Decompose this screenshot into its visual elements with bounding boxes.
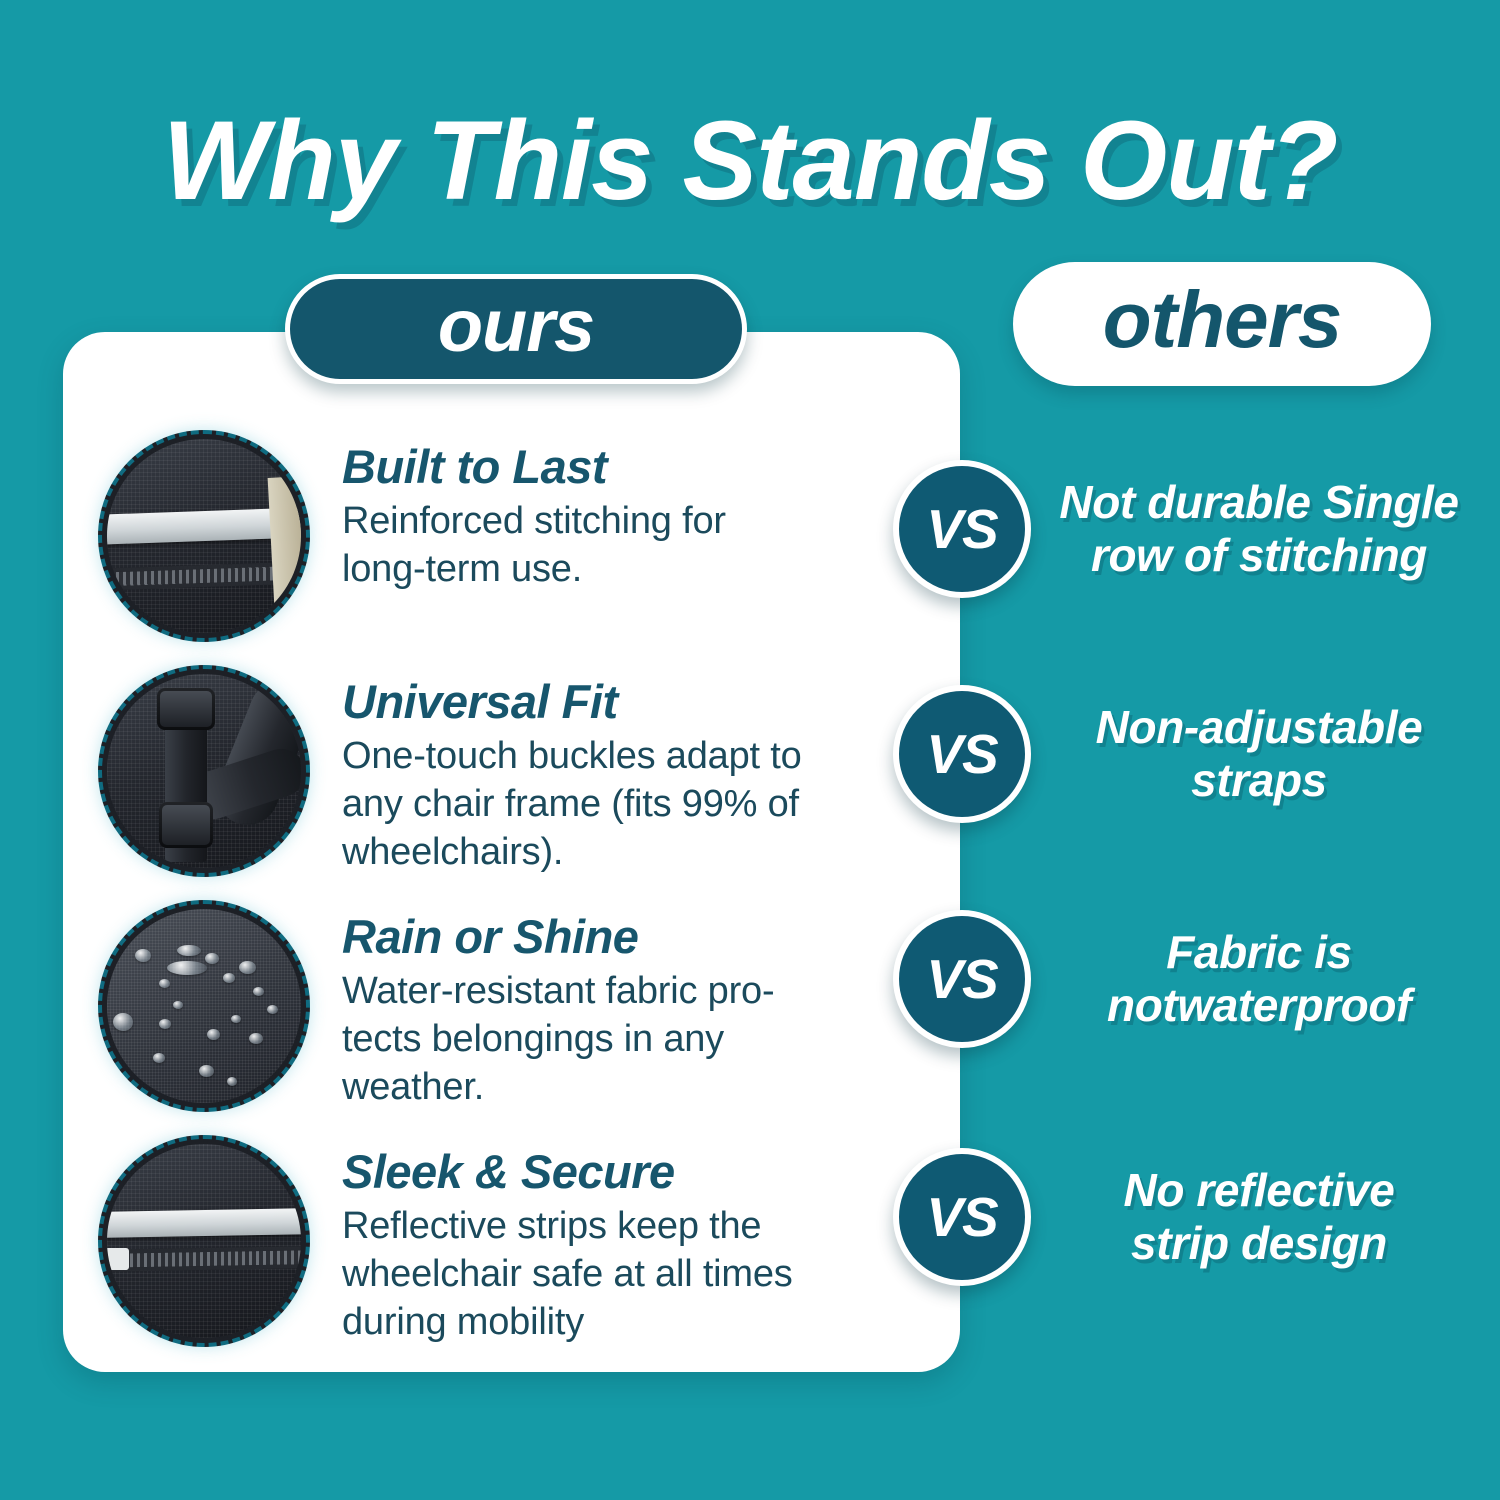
vs-badge: VS [893,460,1031,598]
vs-row-2: VS Non-adjustable straps [893,685,1459,823]
others-text-1: Not durable Single row of stitching [1059,476,1459,582]
feature-heading: Universal Fit [342,677,802,727]
feature-body: Water-resistant fabric pro- tects belong… [342,968,774,1112]
feature-heading: Built to Last [342,442,726,492]
badge-others: others [1013,262,1431,386]
others-text-2: Non-adjustable straps [1059,701,1459,807]
feature-heading: Rain or Shine [342,912,774,962]
feature-body: One-touch buckles adapt to any chair fra… [342,733,802,877]
vs-badge: VS [893,1148,1031,1286]
vs-row-1: VS Not durable Single row of stitching [893,460,1459,598]
others-text-4: No reflective strip design [1059,1164,1459,1270]
feature-text-4: Sleek & Secure Reflective strips keep th… [342,1135,793,1346]
vs-row-4: VS No reflective strip design [893,1148,1459,1286]
buckle-clip-icon [159,802,213,848]
thumb-buckle-strap-photo [98,665,310,877]
feature-text-3: Rain or Shine Water-resistant fabric pro… [342,900,774,1111]
feature-row-1: Built to Last Reinforced stitching for l… [98,430,898,642]
feature-body: Reflective strips keep the wheelchair sa… [342,1203,793,1347]
thumb-water-droplets-fabric-photo [98,900,310,1112]
vs-badge: VS [893,685,1031,823]
feature-row-2: Universal Fit One-touch buckles adapt to… [98,665,898,877]
badge-ours: ours [285,274,747,384]
page-title: Why This Stands Out? [0,105,1500,217]
vs-badge: VS [893,910,1031,1048]
feature-text-1: Built to Last Reinforced stitching for l… [342,430,726,594]
feature-row-4: Sleek & Secure Reflective strips keep th… [98,1135,898,1347]
feature-text-2: Universal Fit One-touch buckles adapt to… [342,665,802,876]
vs-row-3: VS Fabric is notwaterproof [893,910,1459,1048]
feature-row-3: Rain or Shine Water-resistant fabric pro… [98,900,898,1112]
others-text-3: Fabric is notwaterproof [1059,926,1459,1032]
thumb-reflective-strip-zipper-photo [98,430,310,642]
feature-heading: Sleek & Secure [342,1147,793,1197]
thumb-reflective-strip-closeup-photo [98,1135,310,1347]
feature-body: Reinforced stitching for long-term use. [342,498,726,594]
buckle-icon [157,688,215,730]
